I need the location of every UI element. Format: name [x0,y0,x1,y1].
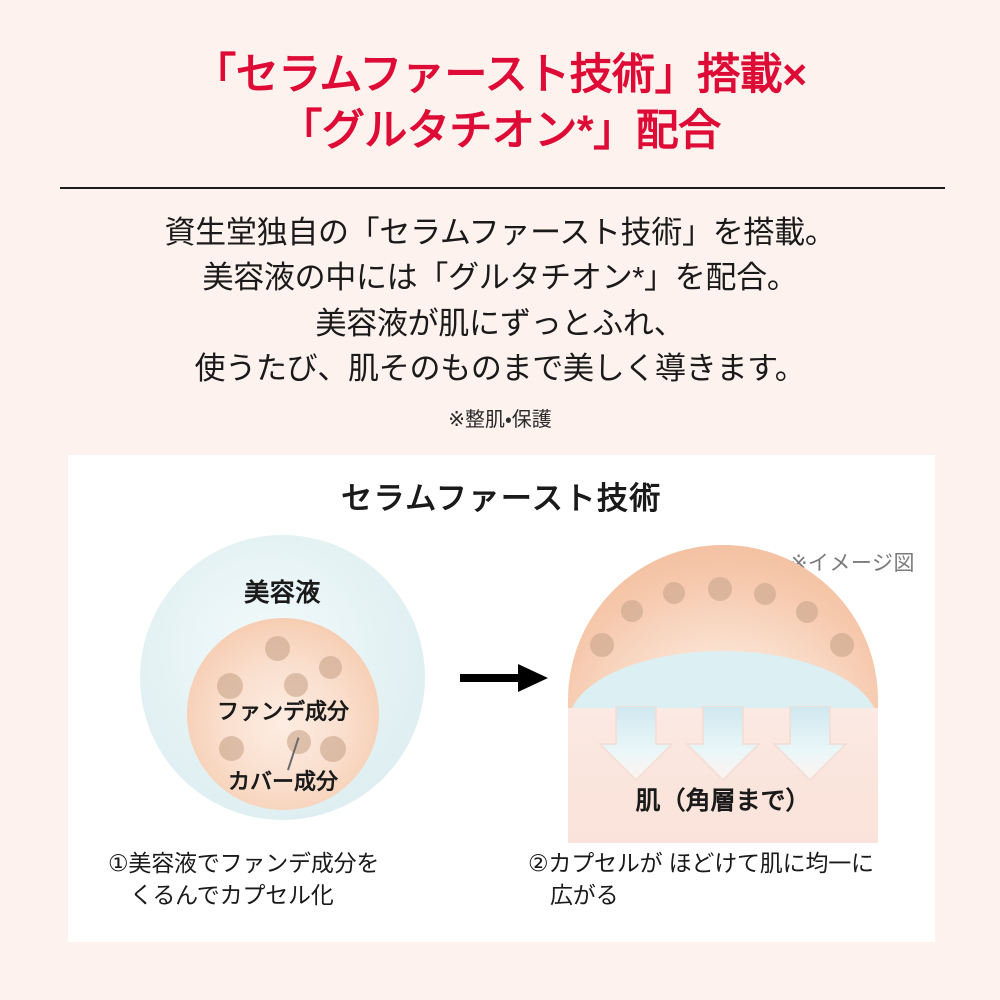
pigment-dot [319,656,342,679]
page-title-line-2: 「グルタチオン*」配合 [0,104,1000,160]
page-title-line-1: 「セラムファースト技術」搭載× [0,48,1000,104]
pigment-dot [590,633,614,657]
foundation-inner-circle: ファンデ成分 カバー成分 [187,618,379,810]
pigment-dot [663,582,685,604]
caption-step-2: ②カプセルが ほどけて肌に均一に 広がる [528,847,928,911]
pigment-dot [219,736,244,761]
caption-step-2-lead: ②カプセルが ほどけて肌に均一に [528,850,874,876]
skin-diagram: 肌（角層まで） [558,533,888,833]
caption-step-2-cont: 広がる [528,879,928,911]
pigment-dot [830,633,854,657]
pigment-dot [708,577,732,601]
diagram-captions: ①美容液でファンデ成分を くるんでカプセル化 ②カプセルが ほどけて肌に均一に … [68,847,935,937]
penetration-arrows [568,706,878,786]
flow-arrow-icon [460,663,548,693]
caption-step-1-cont: くるんでカプセル化 [108,879,488,911]
lead-line-2: 美容液の中には「グルタチオン*」を配合。 [0,255,1000,300]
serum-outer-circle: 美容液 ファンデ成分 カバー成分 [140,535,425,820]
caption-step-1-lead: ①美容液でファンデ成分を [108,850,379,876]
lead-line-1: 資生堂独自の「セラムファースト技術」を搭載。 [0,210,1000,255]
title-divider [60,187,945,189]
card-heading: セラムファースト技術 [68,473,935,518]
pigment-dot [796,601,818,623]
skin-label: 肌（角層まで） [568,781,878,817]
pigment-dot [754,583,776,605]
caption-step-1: ①美容液でファンデ成分を くるんでカプセル化 [108,847,488,911]
serum-label: 美容液 [140,573,425,609]
pigment-dot [265,636,290,661]
penetration-arrow-icon [774,706,846,780]
lead-paragraph: 資生堂独自の「セラムファースト技術」を搭載。 美容液の中には「グルタチオン*」を… [0,210,1000,432]
penetration-arrow-icon [687,706,759,780]
pigment-dot [287,730,311,754]
pigment-dot [320,736,346,762]
technology-card: セラムファースト技術 ※イメージ図 美容液 ファンデ成分 カバー成分 [68,455,935,942]
diagram-stage: 美容液 ファンデ成分 カバー成分 [68,515,935,845]
foundation-ingredient-label: ファンデ成分 [187,694,379,726]
pigment-dot [621,600,643,622]
skin-layer [568,708,878,843]
lead-line-4: 使うたび、肌そのものまで美しく導きます。 [0,346,1000,391]
cover-ingredient-label: カバー成分 [187,764,379,796]
penetration-arrow-icon [600,706,672,780]
lead-footnote: ※整肌・保護 [0,403,1000,432]
lead-line-3: 美容液が肌にずっとふれ、 [0,301,1000,346]
page-title: 「セラムファースト技術」搭載× 「グルタチオン*」配合 [0,48,1000,160]
